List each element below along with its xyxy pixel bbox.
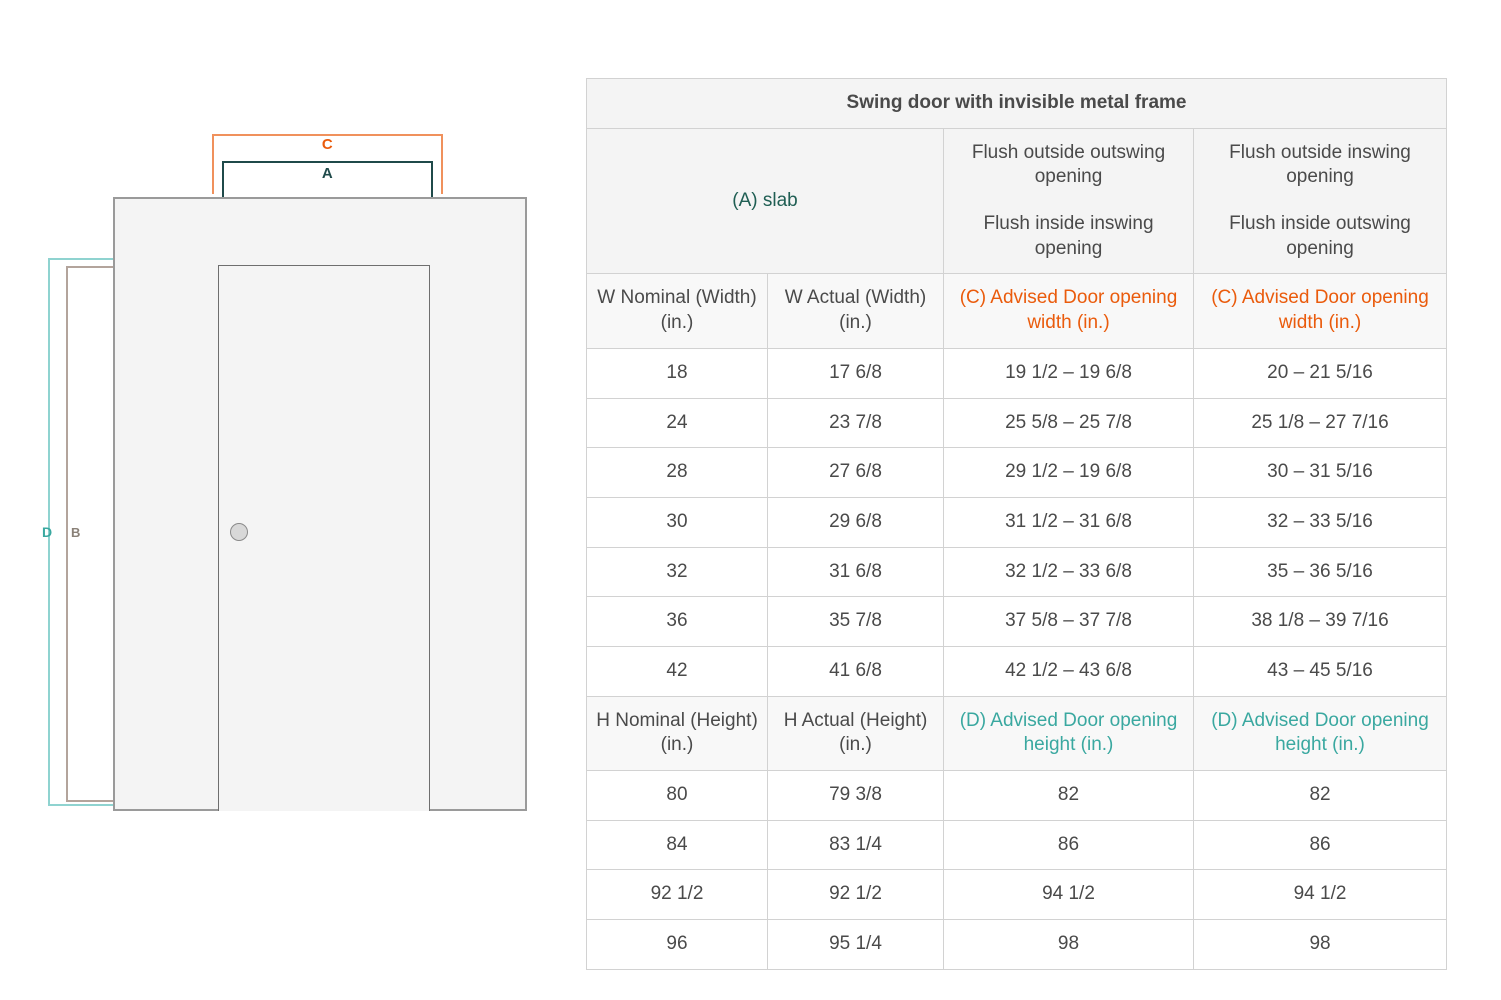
cell-h-nominal: 92 1/2 [587, 870, 768, 920]
group-header-outswing-line2: Flush inside inswing opening [950, 212, 1187, 261]
spec-table-container: Swing door with invisible metal frame (A… [586, 78, 1446, 970]
cell-w-nominal: 30 [587, 497, 768, 547]
cell-h-actual: 95 1/4 [768, 920, 944, 970]
cell-h-nominal: 96 [587, 920, 768, 970]
header-d-height-inswing: (D) Advised Door opening height (in.) [1194, 696, 1447, 770]
cell-w-actual: 29 6/8 [768, 497, 944, 547]
cell-c-outswing: 42 1/2 – 43 6/8 [944, 646, 1194, 696]
cell-w-nominal: 18 [587, 348, 768, 398]
cell-c-outswing: 19 1/2 – 19 6/8 [944, 348, 1194, 398]
cell-c-inswing: 30 – 31 5/16 [1194, 448, 1447, 498]
table-row: 96 95 1/4 98 98 [587, 920, 1447, 970]
table-row: 84 83 1/4 86 86 [587, 820, 1447, 870]
group-header-inswing-line2: Flush inside outswing opening [1200, 212, 1440, 261]
page-root: C A D B Swing door with invisible metal … [0, 0, 1501, 1000]
table-row: 92 1/2 92 1/2 94 1/2 94 1/2 [587, 870, 1447, 920]
cell-d-outswing: 86 [944, 820, 1194, 870]
header-c-width-outswing: (C) Advised Door opening width (in.) [944, 274, 1194, 348]
group-header-outswing: Flush outside outswing opening Flush ins… [944, 128, 1194, 274]
dimension-label-c: C [212, 136, 443, 153]
table-group-header-row: (A) slab Flush outside outswing opening … [587, 128, 1447, 274]
cell-c-outswing: 31 1/2 – 31 6/8 [944, 497, 1194, 547]
table-row: 80 79 3/8 82 82 [587, 771, 1447, 821]
cell-d-inswing: 94 1/2 [1194, 870, 1447, 920]
table-row: 18 17 6/8 19 1/2 – 19 6/8 20 – 21 5/16 [587, 348, 1447, 398]
cell-c-inswing: 25 1/8 – 27 7/16 [1194, 398, 1447, 448]
table-row: 24 23 7/8 25 5/8 – 25 7/8 25 1/8 – 27 7/… [587, 398, 1447, 448]
spec-table-body: Swing door with invisible metal frame (A… [587, 79, 1447, 970]
table-title-row: Swing door with invisible metal frame [587, 79, 1447, 129]
cell-c-inswing: 20 – 21 5/16 [1194, 348, 1447, 398]
width-header-row: W Nominal (Width) (in.) W Actual (Width)… [587, 274, 1447, 348]
cell-c-outswing: 29 1/2 – 19 6/8 [944, 448, 1194, 498]
door-diagram: C A D B [0, 0, 560, 1000]
header-h-nominal: H Nominal (Height) (in.) [587, 696, 768, 770]
header-d-height-outswing: (D) Advised Door opening height (in.) [944, 696, 1194, 770]
group-header-inswing-line1: Flush outside inswing opening [1200, 141, 1440, 190]
slab-word: slab [758, 190, 798, 211]
cell-w-nominal: 28 [587, 448, 768, 498]
height-header-row: H Nominal (Height) (in.) H Actual (Heigh… [587, 696, 1447, 770]
cell-h-actual: 79 3/8 [768, 771, 944, 821]
table-row: 36 35 7/8 37 5/8 – 37 7/8 38 1/8 – 39 7/… [587, 597, 1447, 647]
cell-w-nominal: 36 [587, 597, 768, 647]
cell-h-actual: 83 1/4 [768, 820, 944, 870]
cell-w-actual: 23 7/8 [768, 398, 944, 448]
cell-w-nominal: 24 [587, 398, 768, 448]
cell-w-actual: 31 6/8 [768, 547, 944, 597]
cell-c-inswing: 35 – 36 5/16 [1194, 547, 1447, 597]
cell-c-outswing: 25 5/8 – 25 7/8 [944, 398, 1194, 448]
cell-w-actual: 35 7/8 [768, 597, 944, 647]
cell-d-inswing: 86 [1194, 820, 1447, 870]
group-header-inswing: Flush outside inswing opening Flush insi… [1194, 128, 1447, 274]
cell-w-nominal: 42 [587, 646, 768, 696]
spec-table: Swing door with invisible metal frame (A… [586, 78, 1447, 970]
cell-d-outswing: 94 1/2 [944, 870, 1194, 920]
door-knob-icon [230, 523, 248, 541]
group-header-outswing-line1: Flush outside outswing opening [950, 141, 1187, 190]
cell-c-inswing: 38 1/8 – 39 7/16 [1194, 597, 1447, 647]
dimension-label-a: A [222, 165, 433, 182]
cell-c-outswing: 32 1/2 – 33 6/8 [944, 547, 1194, 597]
group-header-slab: (A) slab [587, 128, 944, 274]
header-w-nominal: W Nominal (Width) (in.) [587, 274, 768, 348]
cell-h-actual: 92 1/2 [768, 870, 944, 920]
table-row: 30 29 6/8 31 1/2 – 31 6/8 32 – 33 5/16 [587, 497, 1447, 547]
cell-h-nominal: 80 [587, 771, 768, 821]
door-slab [218, 265, 430, 811]
cell-w-actual: 27 6/8 [768, 448, 944, 498]
cell-h-nominal: 84 [587, 820, 768, 870]
header-w-actual: W Actual (Width) (in.) [768, 274, 944, 348]
cell-d-inswing: 98 [1194, 920, 1447, 970]
header-h-actual: H Actual (Height) (in.) [768, 696, 944, 770]
cell-d-inswing: 82 [1194, 771, 1447, 821]
cell-d-outswing: 82 [944, 771, 1194, 821]
cell-w-actual: 17 6/8 [768, 348, 944, 398]
cell-w-actual: 41 6/8 [768, 646, 944, 696]
table-row: 32 31 6/8 32 1/2 – 33 6/8 35 – 36 5/16 [587, 547, 1447, 597]
header-c-width-inswing: (C) Advised Door opening width (in.) [1194, 274, 1447, 348]
cell-d-outswing: 98 [944, 920, 1194, 970]
cell-w-nominal: 32 [587, 547, 768, 597]
dimension-label-b: B [71, 525, 80, 540]
table-row: 42 41 6/8 42 1/2 – 43 6/8 43 – 45 5/16 [587, 646, 1447, 696]
cell-c-inswing: 43 – 45 5/16 [1194, 646, 1447, 696]
dimension-label-d: D [42, 524, 52, 540]
cell-c-outswing: 37 5/8 – 37 7/8 [944, 597, 1194, 647]
table-row: 28 27 6/8 29 1/2 – 19 6/8 30 – 31 5/16 [587, 448, 1447, 498]
cell-c-inswing: 32 – 33 5/16 [1194, 497, 1447, 547]
slab-letter: (A) [732, 190, 757, 211]
table-title: Swing door with invisible metal frame [587, 79, 1447, 129]
